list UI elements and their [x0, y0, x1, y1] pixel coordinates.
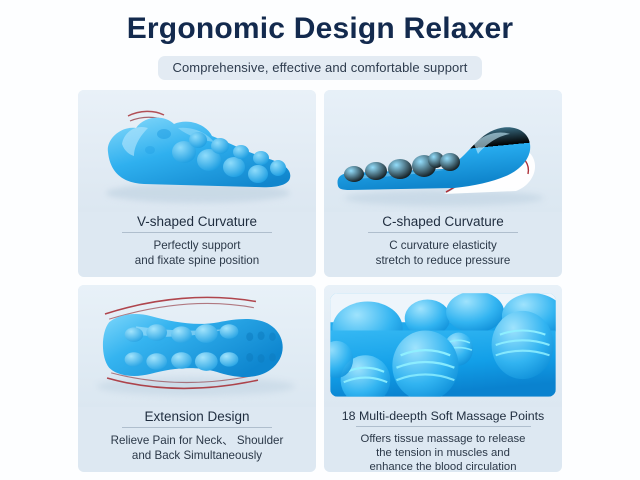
feature-card-v-shaped-curvature: V-shaped Curvature Perfectly support and… [78, 90, 316, 277]
feature-card-massage-points: 18 Multi-deepth Soft Massage Points Offe… [324, 285, 562, 472]
heading-underline [368, 232, 518, 233]
feature-card-c-shaped-curvature: C-shaped Curvature C curvature elasticit… [324, 90, 562, 277]
heading-underline [356, 426, 531, 427]
heading-underline [122, 427, 272, 428]
relaxer-angled-view-image [78, 90, 316, 212]
caption-massage-points: 18 Multi-deepth Soft Massage Points Offe… [324, 407, 562, 472]
card-body: Offers tissue massage to release the ten… [353, 432, 534, 472]
page-title: Ergonomic Design Relaxer [0, 12, 640, 46]
card-body-line: and Back Simultaneously [111, 448, 284, 463]
card-heading: C-shaped Curvature [378, 214, 508, 232]
header: Ergonomic Design Relaxer Comprehensive, … [0, 0, 640, 88]
card-heading: V-shaped Curvature [133, 214, 261, 232]
card-body-line: Relieve Pain for Neck、 Shoulder [111, 433, 284, 448]
card-body: Perfectly support and fixate spine posit… [127, 238, 267, 268]
card-heading: Extension Design [140, 409, 253, 427]
subtitle-container: Comprehensive, effective and comfortable… [0, 56, 640, 80]
card-body-line: stretch to reduce pressure [376, 253, 511, 268]
relaxer-top-view-image [78, 285, 316, 407]
relaxer-side-profile-image [324, 90, 562, 212]
card-body-line: and fixate spine position [135, 253, 259, 268]
feature-grid: V-shaped Curvature Perfectly support and… [78, 90, 562, 472]
card-body-line: enhance the blood circulation [361, 460, 526, 472]
massage-nubs-macro-image [324, 285, 562, 407]
card-body-line: Offers tissue massage to release [361, 432, 526, 446]
caption-c-shaped-curvature: C-shaped Curvature C curvature elasticit… [324, 212, 562, 277]
card-body: Relieve Pain for Neck、 Shoulder and Back… [103, 433, 292, 463]
card-body-line: the tension in muscles and [361, 446, 526, 460]
caption-extension-design: Extension Design Relieve Pain for Neck、 … [78, 407, 316, 472]
subtitle-badge: Comprehensive, effective and comfortable… [158, 56, 481, 80]
card-heading: 18 Multi-deepth Soft Massage Points [338, 409, 549, 426]
card-body-line: C curvature elasticity [376, 238, 511, 253]
caption-v-shaped-curvature: V-shaped Curvature Perfectly support and… [78, 212, 316, 277]
feature-card-extension-design: Extension Design Relieve Pain for Neck、 … [78, 285, 316, 472]
infographic-page: Ergonomic Design Relaxer Comprehensive, … [0, 0, 640, 480]
card-body: C curvature elasticity stretch to reduce… [368, 238, 519, 268]
card-body-line: Perfectly support [135, 238, 259, 253]
heading-underline [122, 232, 272, 233]
